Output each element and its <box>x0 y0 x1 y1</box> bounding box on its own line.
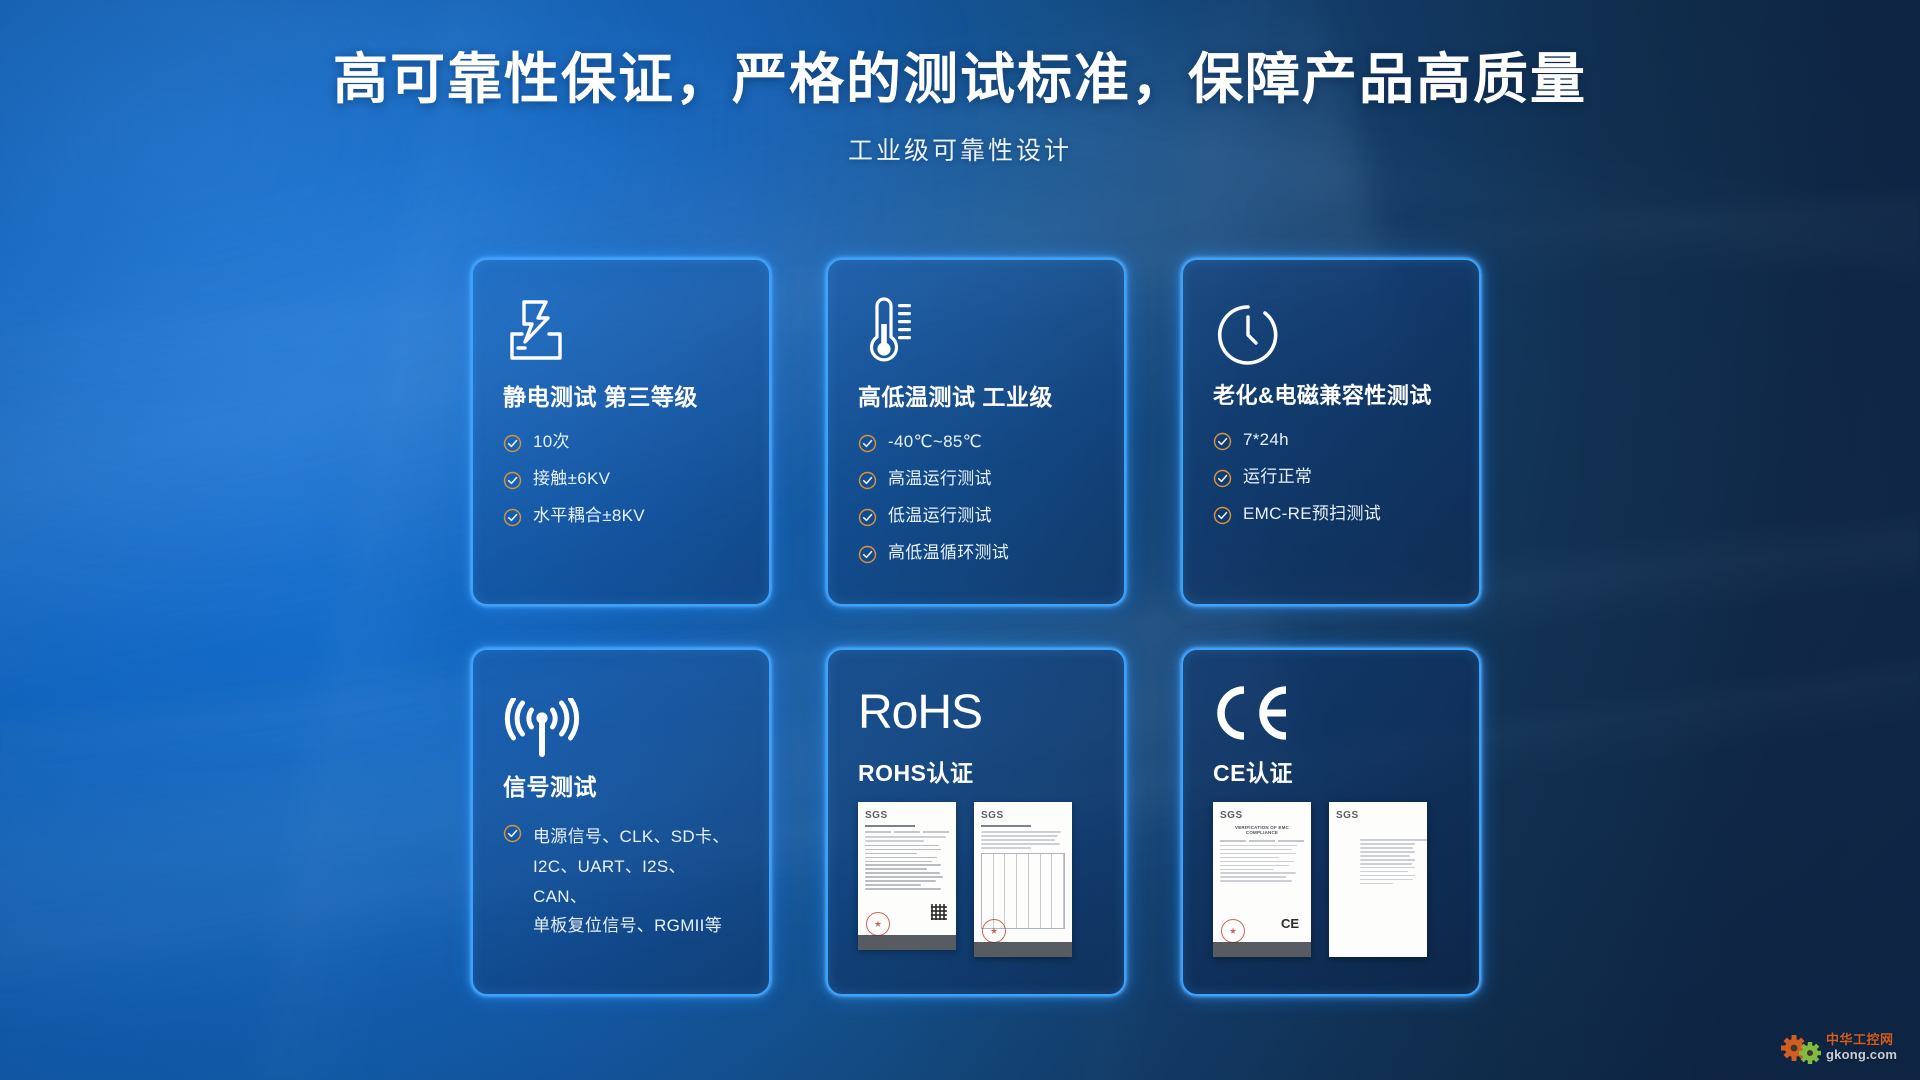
page-subtitle: 工业级可靠性设计 <box>0 131 1920 167</box>
certificate-thumbnails: SGS VERIFICATION OF EMC COMPLIANCE CE <box>1213 802 1449 957</box>
official-seal-stamp <box>1221 919 1245 943</box>
slide-header: 高可靠性保证，严格的测试标准，保障产品高质量 工业级可靠性设计 <box>0 48 1920 167</box>
card-aging-emc-test[interactable]: 老化&电磁兼容性测试 7*24h 运行正常 <box>1181 258 1481 606</box>
card-title: 高低温测试 工业级 <box>858 378 1094 412</box>
watermark-chinese-label: 中华工控网 <box>1826 1033 1897 1048</box>
check-circle-icon <box>503 508 522 527</box>
document-heading: VERIFICATION OF EMC COMPLIANCE <box>1220 825 1304 835</box>
document-footer-bar <box>858 935 956 950</box>
list-item: 10次 <box>503 432 739 453</box>
rohs-logo: RoHS <box>858 682 1094 744</box>
document-footer-bar <box>1213 942 1311 957</box>
watermark-domain-label: gkong.com <box>1826 1048 1897 1063</box>
ce-mark-small-icon: CE <box>1281 916 1299 931</box>
list-item-line: I2C、UART、I2S、CAN、 <box>533 857 686 906</box>
list-item: 电源信号、CLK、SD卡、 I2C、UART、I2S、CAN、 单板复位信号、R… <box>503 822 739 941</box>
sgs-logo-text: SGS <box>865 810 949 821</box>
check-circle-icon <box>1213 506 1232 525</box>
gear-pair-icon <box>1780 1028 1824 1068</box>
list-item-label: 低温运行测试 <box>888 506 992 526</box>
bullet-list: 7*24h 运行正常 EMC-RE预扫测试 <box>1213 430 1449 525</box>
certificate-document[interactable]: SGS <box>858 802 956 950</box>
list-item-line: 单板复位信号、RGMII等 <box>533 916 722 935</box>
card-title: 静电测试 第三等级 <box>503 378 739 412</box>
bullet-list: -40℃~85℃ 高温运行测试 低温运行测试 <box>858 432 1094 564</box>
list-item: 高温运行测试 <box>858 469 1094 490</box>
ce-mark-logo <box>1213 682 1449 744</box>
clock-icon <box>1213 292 1449 370</box>
list-item-label: 运行正常 <box>1243 467 1312 487</box>
sgs-logo-text: SGS <box>1336 810 1420 821</box>
list-item: 低温运行测试 <box>858 506 1094 527</box>
list-item-label: 高低温循环测试 <box>888 543 1009 563</box>
sgs-logo-text: SGS <box>981 810 1065 821</box>
card-signal-test[interactable]: 信号测试 电源信号、CLK、SD卡、 I2C、UART、I2S、CAN、 单板复… <box>471 648 771 996</box>
list-item: 高低温循环测试 <box>858 543 1094 564</box>
list-item: 7*24h <box>1213 430 1449 451</box>
certificate-document[interactable]: SGS VERIFICATION OF EMC COMPLIANCE CE <box>1213 802 1311 957</box>
bullet-list: 电源信号、CLK、SD卡、 I2C、UART、I2S、CAN、 单板复位信号、R… <box>503 822 739 941</box>
list-item-label: 电源信号、CLK、SD卡、 I2C、UART、I2S、CAN、 单板复位信号、R… <box>533 822 739 941</box>
watermark: 中华工控网 gkong.com <box>1780 1024 1912 1072</box>
check-circle-icon <box>858 471 877 490</box>
card-title: 信号测试 <box>503 768 739 802</box>
certificate-thumbnails: SGS <box>858 802 1094 957</box>
list-item-label: 10次 <box>533 432 570 452</box>
card-title: 老化&电磁兼容性测试 <box>1213 378 1449 410</box>
slide-root: 高可靠性保证，严格的测试标准，保障产品高质量 工业级可靠性设计 静电测试 第三等… <box>0 0 1920 1080</box>
test-results-table <box>981 853 1065 929</box>
qr-code <box>931 904 947 920</box>
watermark-text: 中华工控网 gkong.com <box>1826 1033 1897 1063</box>
card-ce-certification[interactable]: CE认证 SGS VERIFICATION OF EMC COMPLIANCE <box>1181 648 1481 996</box>
card-rohs-certification[interactable]: RoHS ROHS认证 SGS <box>826 648 1126 996</box>
check-circle-icon <box>1213 432 1232 451</box>
check-circle-icon <box>858 434 877 453</box>
sgs-logo-text: SGS <box>1220 810 1304 821</box>
check-circle-icon <box>503 471 522 490</box>
certificate-document[interactable]: SGS <box>1329 802 1427 957</box>
card-temperature-test[interactable]: 高低温测试 工业级 -40℃~85℃ 高温运行测试 <box>826 258 1126 606</box>
list-item-line: 电源信号、CLK、SD卡、 <box>533 827 730 846</box>
ce-mark-icon <box>1213 685 1291 741</box>
official-seal-stamp <box>982 919 1006 943</box>
check-circle-icon <box>858 545 877 564</box>
document-footer-bar <box>974 942 1072 957</box>
list-item-label: 水平耦合±8KV <box>533 506 645 526</box>
card-esd-test[interactable]: 静电测试 第三等级 10次 接触±6KV <box>471 258 771 606</box>
list-item-label: 7*24h <box>1243 430 1289 450</box>
list-item: EMC-RE预扫测试 <box>1213 504 1449 525</box>
page-title: 高可靠性保证，严格的测试标准，保障产品高质量 <box>0 48 1920 111</box>
card-title: CE认证 <box>1213 754 1449 788</box>
check-circle-icon <box>1213 469 1232 488</box>
list-item: 水平耦合±8KV <box>503 506 739 527</box>
check-circle-icon <box>503 434 522 453</box>
list-item: 运行正常 <box>1213 467 1449 488</box>
check-circle-icon <box>858 508 877 527</box>
rohs-logo-text: RoHS <box>858 689 982 737</box>
list-item: -40℃~85℃ <box>858 432 1094 453</box>
list-item-label: 接触±6KV <box>533 469 610 489</box>
thermometer-icon <box>858 292 1094 370</box>
official-seal-stamp <box>866 912 890 936</box>
list-item: 接触±6KV <box>503 469 739 490</box>
check-circle-icon <box>503 824 522 843</box>
esd-lightning-icon <box>503 292 739 370</box>
list-item-label: 高温运行测试 <box>888 469 992 489</box>
certificate-document[interactable]: SGS <box>974 802 1072 957</box>
bullet-list: 10次 接触±6KV 水平耦合±8KV <box>503 432 739 527</box>
list-item-label: -40℃~85℃ <box>888 432 982 452</box>
feature-card-grid: 静电测试 第三等级 10次 接触±6KV <box>471 258 1481 996</box>
list-item-label: EMC-RE预扫测试 <box>1243 504 1381 524</box>
card-title: ROHS认证 <box>858 754 1094 788</box>
signal-wave-icon <box>503 682 739 760</box>
